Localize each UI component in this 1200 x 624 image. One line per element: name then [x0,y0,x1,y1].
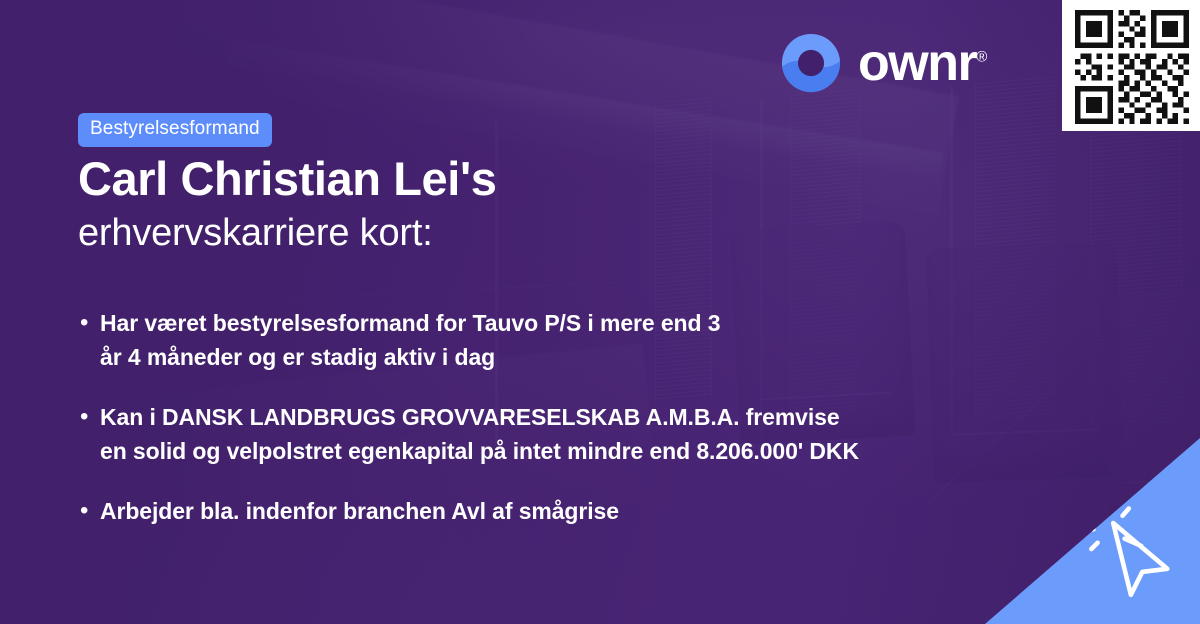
bullet-dot-icon: • [80,400,100,434]
list-item: • Arbejder bla. indenfor branchen Avl af… [80,494,1080,528]
list-item-text: Arbejder bla. indenfor branchen Avl af s… [100,494,619,528]
page-title: Carl Christian Lei's erhvervskarriere ko… [78,152,1018,256]
promo-card: ownr® Bestyrelsesformand Carl Christian … [0,0,1200,624]
list-item: • Kan i DANSK LANDBRUGS GROVVARESELSKAB … [80,400,1080,468]
role-badge: Bestyrelsesformand [78,113,272,147]
ownr-wordmark: ownr® [858,37,987,89]
list-item-text: Kan i DANSK LANDBRUGS GROVVARESELSKAB A.… [100,400,859,468]
ownr-wordmark-text: ownr [858,34,976,92]
qr-code-panel[interactable] [1062,0,1200,131]
qr-code[interactable] [1073,10,1191,124]
career-highlights-list: • Har været bestyrelsesformand for Tauvo… [80,306,1080,554]
ownr-circular-swirl-logo-icon [780,32,842,94]
list-item: • Har været bestyrelsesformand for Tauvo… [80,306,1080,374]
bullet-dot-icon: • [80,306,100,340]
bullet-dot-icon: • [80,494,100,528]
page-title-line2: erhvervskarriere kort: [78,211,1018,257]
list-item-text: Har været bestyrelsesformand for Tauvo P… [100,306,720,374]
registered-trademark-icon: ® [976,49,987,66]
ownr-logo[interactable]: ownr® [780,32,987,94]
page-title-line1: Carl Christian Lei's [78,152,1018,207]
